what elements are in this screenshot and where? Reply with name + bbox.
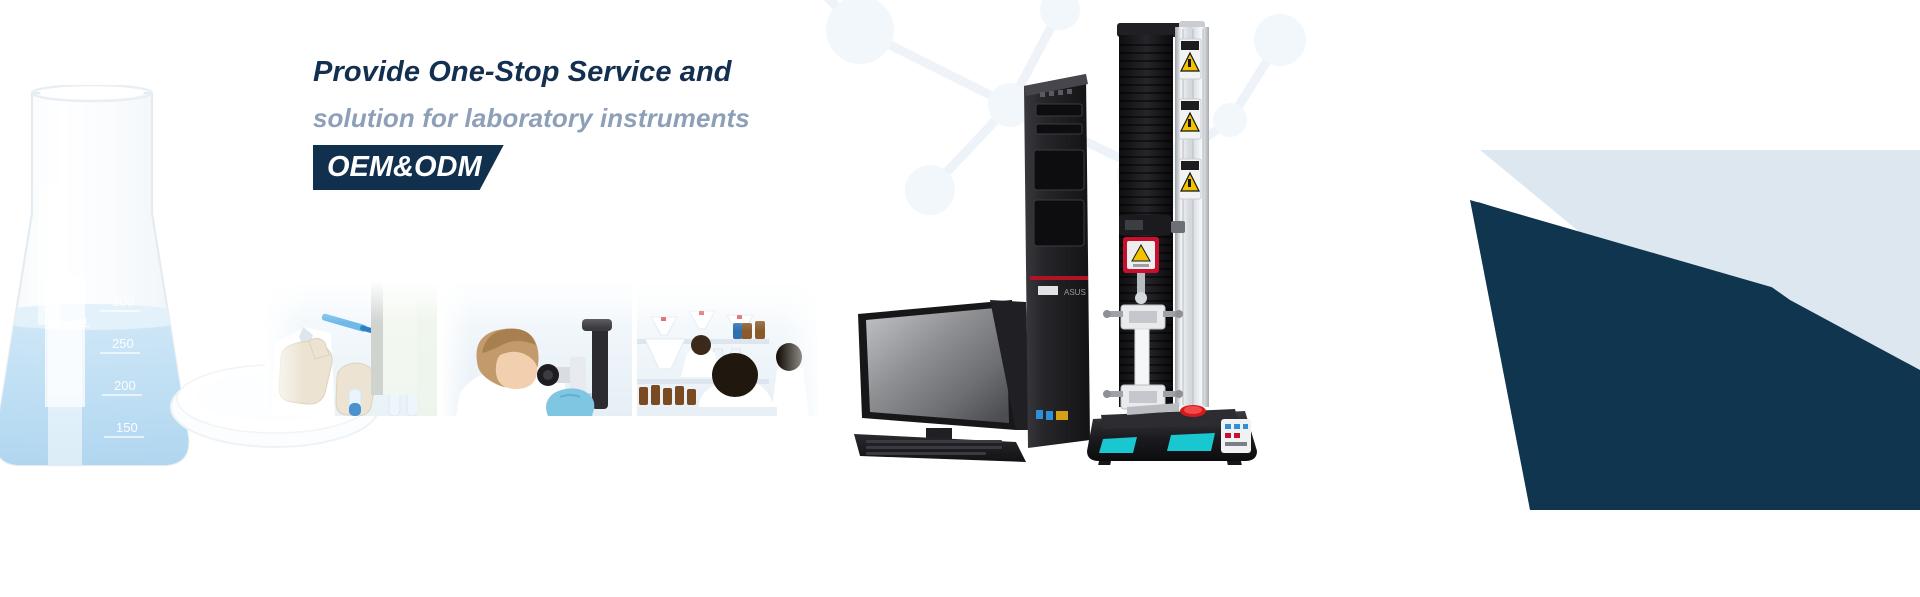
photo-microscope (442, 283, 632, 416)
flask-grad-300: 300 (112, 294, 134, 309)
flask-grad-150: 150 (116, 420, 138, 435)
universal-testing-machine (1075, 15, 1275, 465)
hero-banner: 300 250 200 150 mL Provide One-Stop Serv… (0, 0, 1920, 597)
decorative-wedge-light (1680, 200, 1920, 370)
oem-odm-badge-wrapper: OEM&ODM (313, 145, 504, 190)
desktop-monitor (858, 300, 1030, 455)
machine-base (1087, 403, 1257, 465)
photo-pipette (265, 283, 437, 416)
flask-grad-250: 250 (112, 336, 134, 351)
photo-strip (265, 283, 818, 416)
flask-grad-200: 200 (114, 378, 136, 393)
warning-label-group (1179, 39, 1201, 199)
oem-odm-badge: OEM&ODM (313, 145, 504, 190)
photo-lab-bench (637, 283, 818, 416)
